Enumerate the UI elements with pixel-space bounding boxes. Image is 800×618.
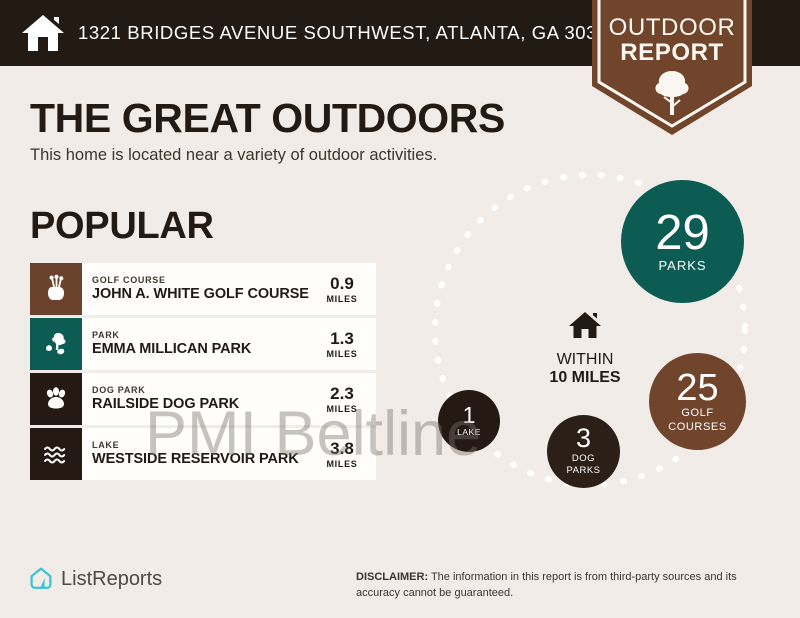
list-item-name: JOHN A. WHITE GOLF COURSE xyxy=(92,287,314,303)
bubble-count: 25 xyxy=(676,370,718,406)
listreports-logo[interactable]: ListReports xyxy=(28,566,162,592)
bubble-label: PARKS xyxy=(658,259,706,273)
list-item-category: GOLF COURSE xyxy=(92,275,314,286)
list-item[interactable]: PARK EMMA MILLICAN PARK 1.3 MILES xyxy=(30,318,376,370)
list-item-category: PARK xyxy=(92,330,314,341)
bubble-label-line2: COURSES xyxy=(668,422,727,434)
within-label: WITHIN xyxy=(520,351,650,369)
list-item-body: GOLF COURSE JOHN A. WHITE GOLF COURSE xyxy=(82,263,314,315)
bubble-golf-courses[interactable]: 25 GOLF COURSES xyxy=(649,353,746,450)
bubble-count: 29 xyxy=(655,210,710,257)
bubble-dog-parks[interactable]: 3 DOG PARKS xyxy=(547,415,620,488)
list-item-body: PARK EMMA MILLICAN PARK xyxy=(82,318,314,370)
bubble-lakes[interactable]: 1 LAKE xyxy=(438,390,500,452)
list-item-name: WESTSIDE RESERVOIR PARK xyxy=(92,452,314,468)
bubble-label-line1: GOLF xyxy=(681,408,713,420)
list-item[interactable]: GOLF COURSE JOHN A. WHITE GOLF COURSE 0.… xyxy=(30,263,376,315)
bubble-count: 1 xyxy=(463,405,476,427)
bubble-label-line1: DOG xyxy=(572,454,595,464)
list-item-body: LAKE WESTSIDE RESERVOIR PARK xyxy=(82,428,314,480)
distance-unit: MILES xyxy=(326,459,357,469)
list-item-distance: 2.3 MILES xyxy=(314,373,376,425)
property-address: 1321 BRIDGES AVENUE SOUTHWEST, ATLANTA, … xyxy=(78,22,619,44)
section-heading-popular: POPULAR xyxy=(30,205,214,248)
list-item[interactable]: DOG PARK RAILSIDE DOG PARK 2.3 MILES xyxy=(30,373,376,425)
golf-bag-icon xyxy=(30,263,82,315)
disclaimer-label: DISCLAIMER: xyxy=(356,571,428,583)
bubble-count: 3 xyxy=(576,426,591,452)
diagram-center-label: WITHIN 10 MILES xyxy=(520,310,650,388)
list-item-category: DOG PARK xyxy=(92,385,314,396)
page-subtitle: This home is located near a variety of o… xyxy=(30,146,437,165)
list-item-distance: 0.9 MILES xyxy=(314,263,376,315)
distance-unit: MILES xyxy=(326,404,357,414)
paw-icon xyxy=(30,373,82,425)
radius-label: 10 MILES xyxy=(520,369,650,387)
list-item-distance: 1.3 MILES xyxy=(314,318,376,370)
distance-value: 0.9 xyxy=(330,275,354,292)
home-icon xyxy=(20,11,66,55)
list-item-body: DOG PARK RAILSIDE DOG PARK xyxy=(82,373,314,425)
list-item-name: EMMA MILLICAN PARK xyxy=(92,342,314,358)
list-item-name: RAILSIDE DOG PARK xyxy=(92,397,314,413)
outdoor-report-badge: OUTDOOR REPORT xyxy=(592,0,752,135)
tree-park-icon xyxy=(30,318,82,370)
list-item-category: LAKE xyxy=(92,440,314,451)
popular-places-list: GOLF COURSE JOHN A. WHITE GOLF COURSE 0.… xyxy=(30,263,376,483)
bubble-label: LAKE xyxy=(457,428,481,437)
list-item[interactable]: LAKE WESTSIDE RESERVOIR PARK 3.8 MILES xyxy=(30,428,376,480)
distance-value: 3.8 xyxy=(330,440,354,457)
page-title: THE GREAT OUTDOORS xyxy=(30,95,505,142)
distance-unit: MILES xyxy=(326,294,357,304)
home-icon xyxy=(520,310,650,345)
distance-unit: MILES xyxy=(326,349,357,359)
disclaimer: DISCLAIMER: The information in this repo… xyxy=(356,570,776,602)
list-item-distance: 3.8 MILES xyxy=(314,428,376,480)
bubble-label-line2: PARKS xyxy=(566,466,600,476)
listreports-logo-text: ListReports xyxy=(61,568,162,591)
distance-value: 2.3 xyxy=(330,385,354,402)
amenities-bubble-diagram: 29 PARKS 25 GOLF COURSES 3 DOG PARKS 1 L… xyxy=(400,170,800,550)
bubble-parks[interactable]: 29 PARKS xyxy=(621,180,744,303)
distance-value: 1.3 xyxy=(330,330,354,347)
listreports-logo-icon xyxy=(28,566,54,592)
waves-icon xyxy=(30,428,82,480)
